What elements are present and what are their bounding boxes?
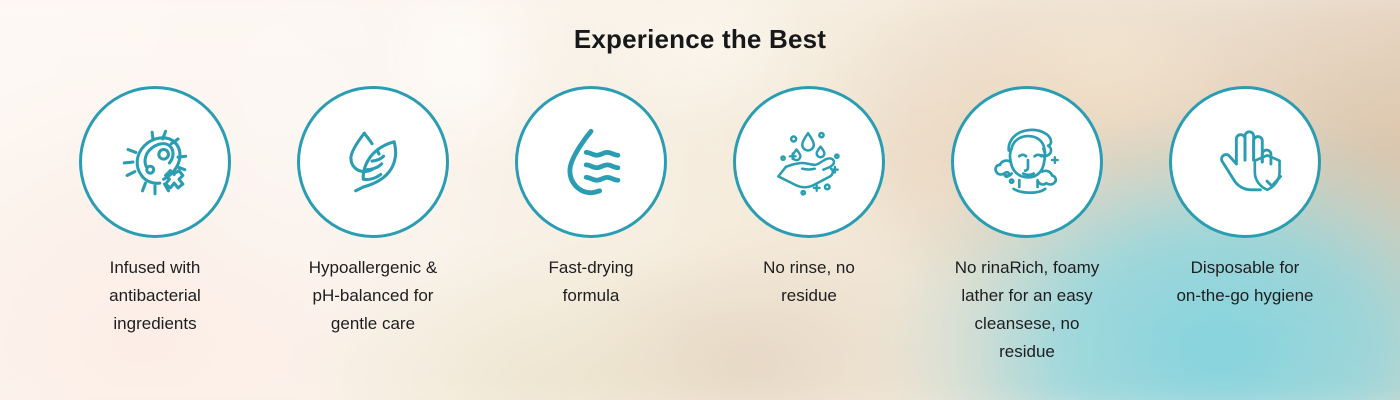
page-title: Experience the Best <box>0 24 1400 55</box>
feature-caption: Hypoallergenic & pH-balanced for gentle … <box>309 254 438 338</box>
feature-caption: No rinaRich, foamy lather for an easy cl… <box>955 254 1100 366</box>
feature-caption: Infused with antibacterial ingredients <box>109 254 201 338</box>
droplet-drying-waves-icon <box>543 114 639 210</box>
face-foam-lather-icon <box>979 114 1075 210</box>
feature-icon-badge <box>733 86 885 238</box>
feature-item: No rinaRich, foamy lather for an easy cl… <box>918 86 1136 366</box>
feature-item: Hypoallergenic & pH-balanced for gentle … <box>264 86 482 338</box>
feature-caption: Disposable for on-the-go hygiene <box>1176 254 1313 310</box>
feature-caption: No rinse, no residue <box>763 254 855 310</box>
feature-item: Disposable for on-the-go hygiene <box>1136 86 1354 310</box>
feature-icon-badge <box>515 86 667 238</box>
hands-water-sparkle-icon <box>761 114 857 210</box>
hand-shield-check-icon <box>1197 114 1293 210</box>
feature-icon-badge <box>79 86 231 238</box>
feature-caption: Fast-drying formula <box>548 254 633 310</box>
feature-icon-badge <box>1169 86 1321 238</box>
feature-item: No rinse, no residue <box>700 86 918 310</box>
feature-item: Fast-drying formula <box>482 86 700 310</box>
feature-item: Infused with antibacterial ingredients <box>46 86 264 338</box>
feature-icon-badge <box>297 86 449 238</box>
bacteria-x-icon <box>107 114 203 210</box>
promo-banner: Experience the Best <box>0 0 1400 400</box>
feature-icon-badge <box>951 86 1103 238</box>
droplet-feather-icon <box>325 114 421 210</box>
feature-list: Infused with antibacterial ingredients <box>0 86 1400 366</box>
